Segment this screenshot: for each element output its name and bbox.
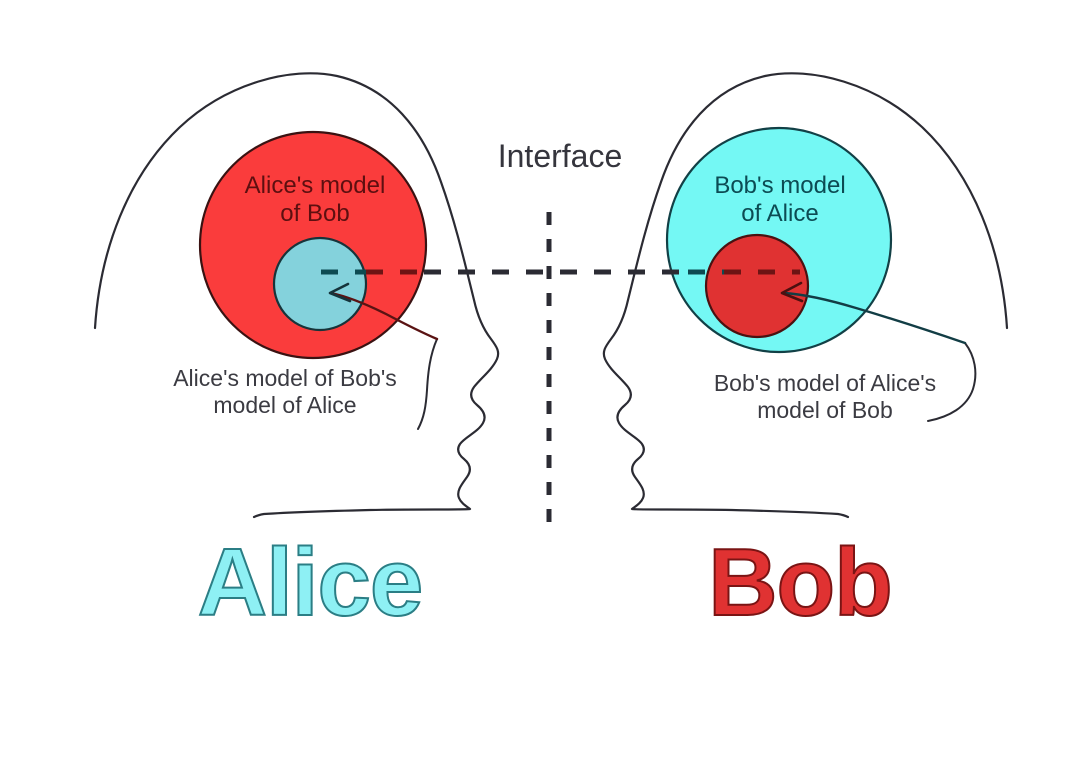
alice-nested-model-caption: Alice's model of Bob's model of Alice <box>120 365 450 419</box>
alice-model-of-bob-label: Alice's model of Bob <box>205 172 425 229</box>
bob-nested-model-caption: Bob's model of Alice's model of Bob <box>660 370 990 424</box>
bob-model-of-alice-label: Bob's model of Alice <box>672 172 888 229</box>
bob-name-label: Bob <box>670 526 930 639</box>
alice-model-of-bobs-model-of-alice-circle <box>274 238 366 330</box>
interface-label: Interface <box>460 138 660 176</box>
alice-name-label: Alice <box>160 526 460 639</box>
diagram-canvas: Interface Alice's model of Bob Bob's mod… <box>0 0 1080 761</box>
